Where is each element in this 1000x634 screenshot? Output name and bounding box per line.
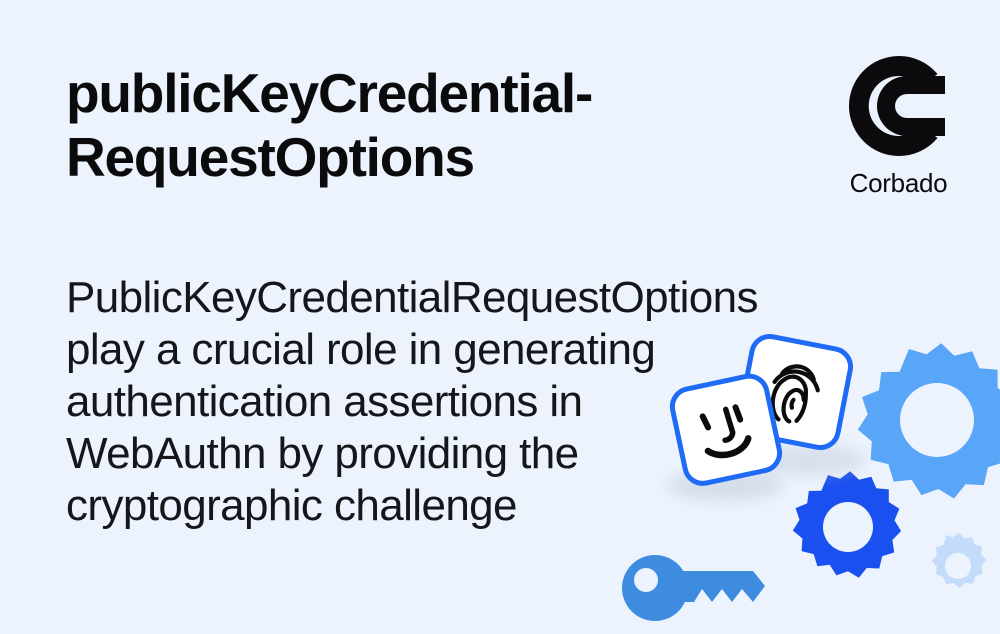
page-title: publicKeyCredential- RequestOptions (66, 62, 706, 190)
brand-name: Corbado (850, 168, 948, 199)
corbado-c-logo-icon (845, 52, 953, 160)
brand-lockup: Corbado (836, 52, 961, 199)
face-id-card-icon (669, 373, 783, 487)
gear-small-icon (932, 533, 987, 588)
gear-medium-icon (793, 471, 901, 578)
key-icon (622, 555, 765, 621)
slide-card: publicKeyCredential- RequestOptions Publ… (0, 0, 1000, 634)
illustration-cluster (590, 330, 1000, 620)
gear-large-icon (858, 343, 1000, 498)
